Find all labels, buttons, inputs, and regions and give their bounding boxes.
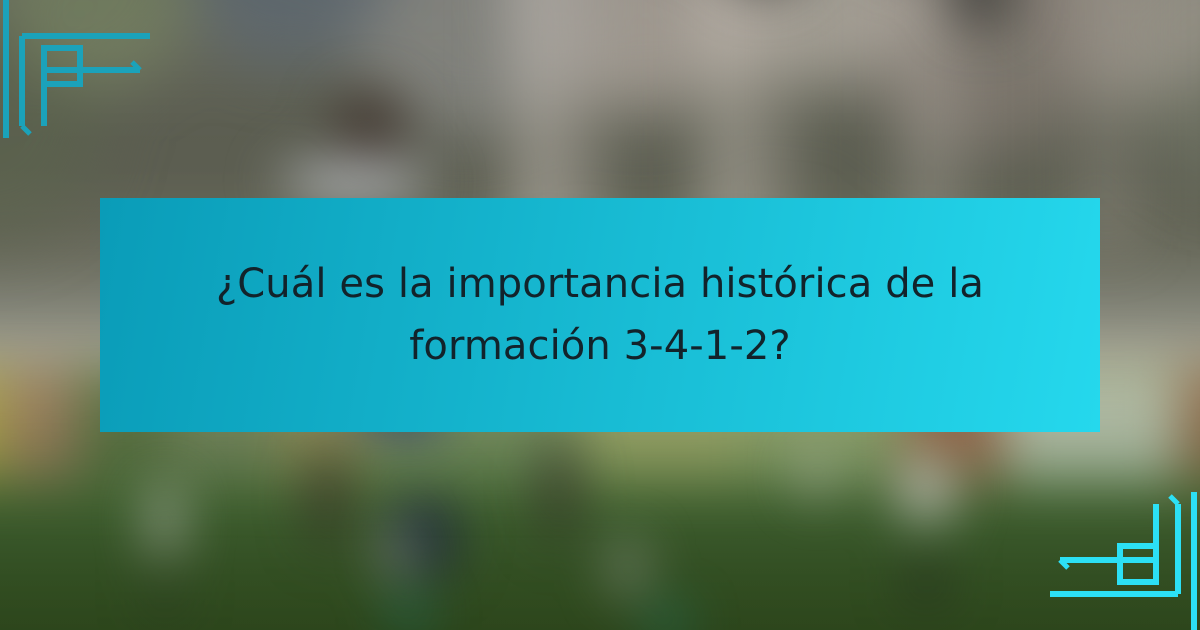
question-card: ¿Cuál es la importancia histórica de la … [0,0,1200,630]
corner-bracket-bottom-right-icon [1050,480,1200,630]
question-title: ¿Cuál es la importancia histórica de la … [156,253,1044,377]
question-banner: ¿Cuál es la importancia histórica de la … [100,198,1100,432]
corner-bracket-top-left-icon [0,0,150,150]
